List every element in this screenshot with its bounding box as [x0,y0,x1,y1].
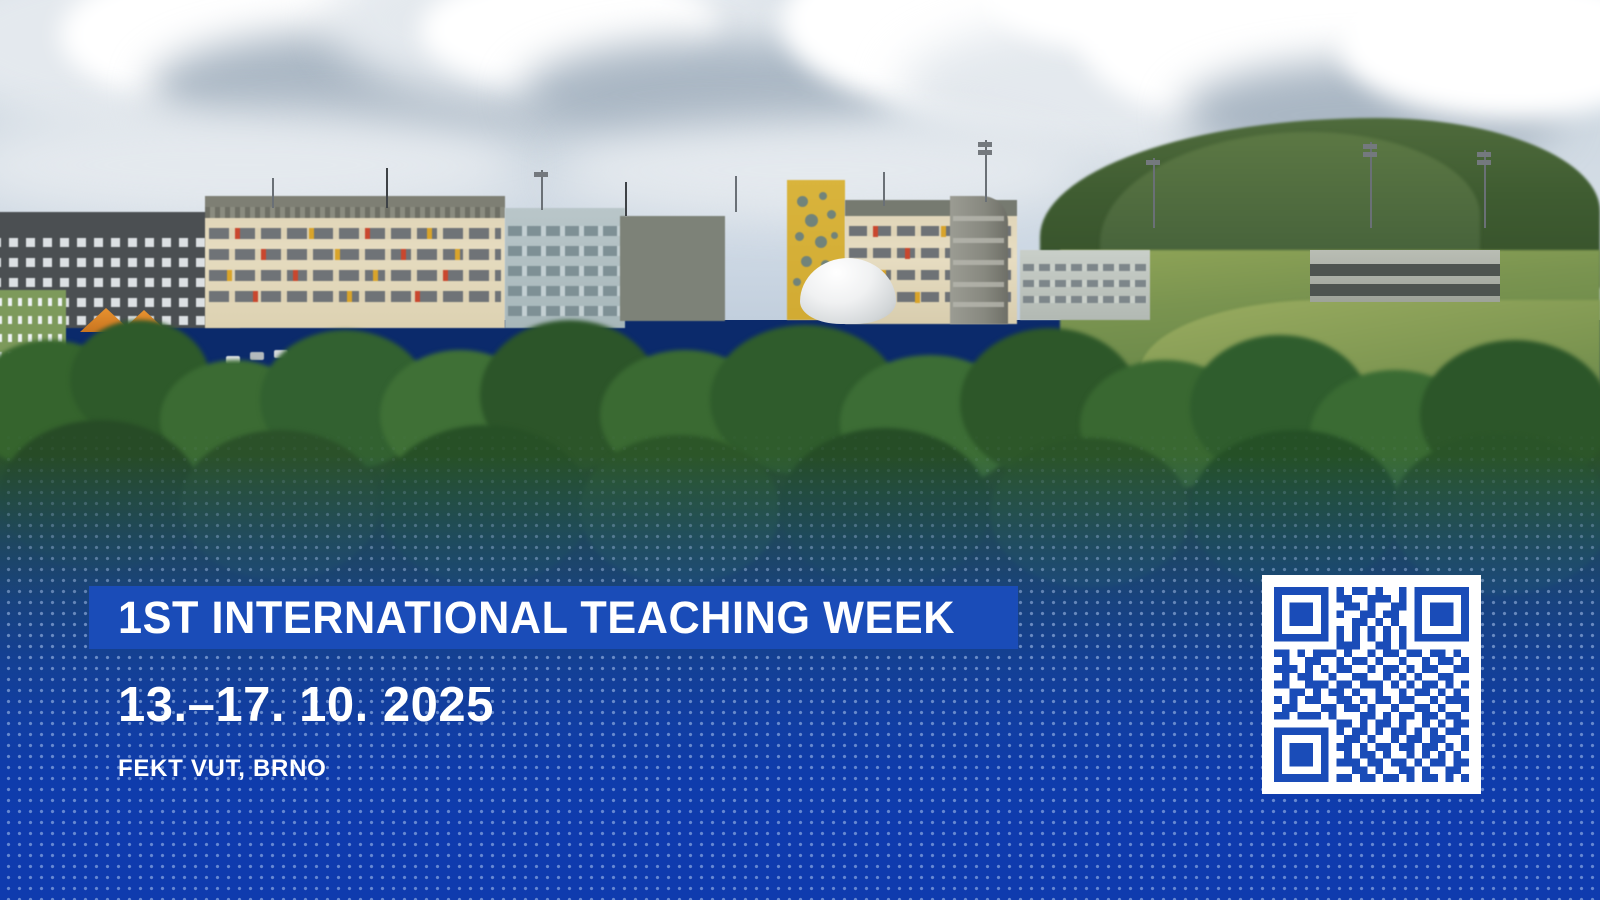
qr-code-icon [1274,587,1469,782]
qr-code[interactable] [1262,575,1481,794]
event-venue: FEKT VUT, BRNO [118,757,326,781]
event-date: 13.–17. 10. 2025 [118,681,494,730]
title-banner: 1ST INTERNATIONAL TEACHING WEEK [89,586,1018,649]
page-title: 1ST INTERNATIONAL TEACHING WEEK [118,595,955,640]
poster-banner: 1ST INTERNATIONAL TEACHING WEEK 13.–17. … [0,0,1600,900]
